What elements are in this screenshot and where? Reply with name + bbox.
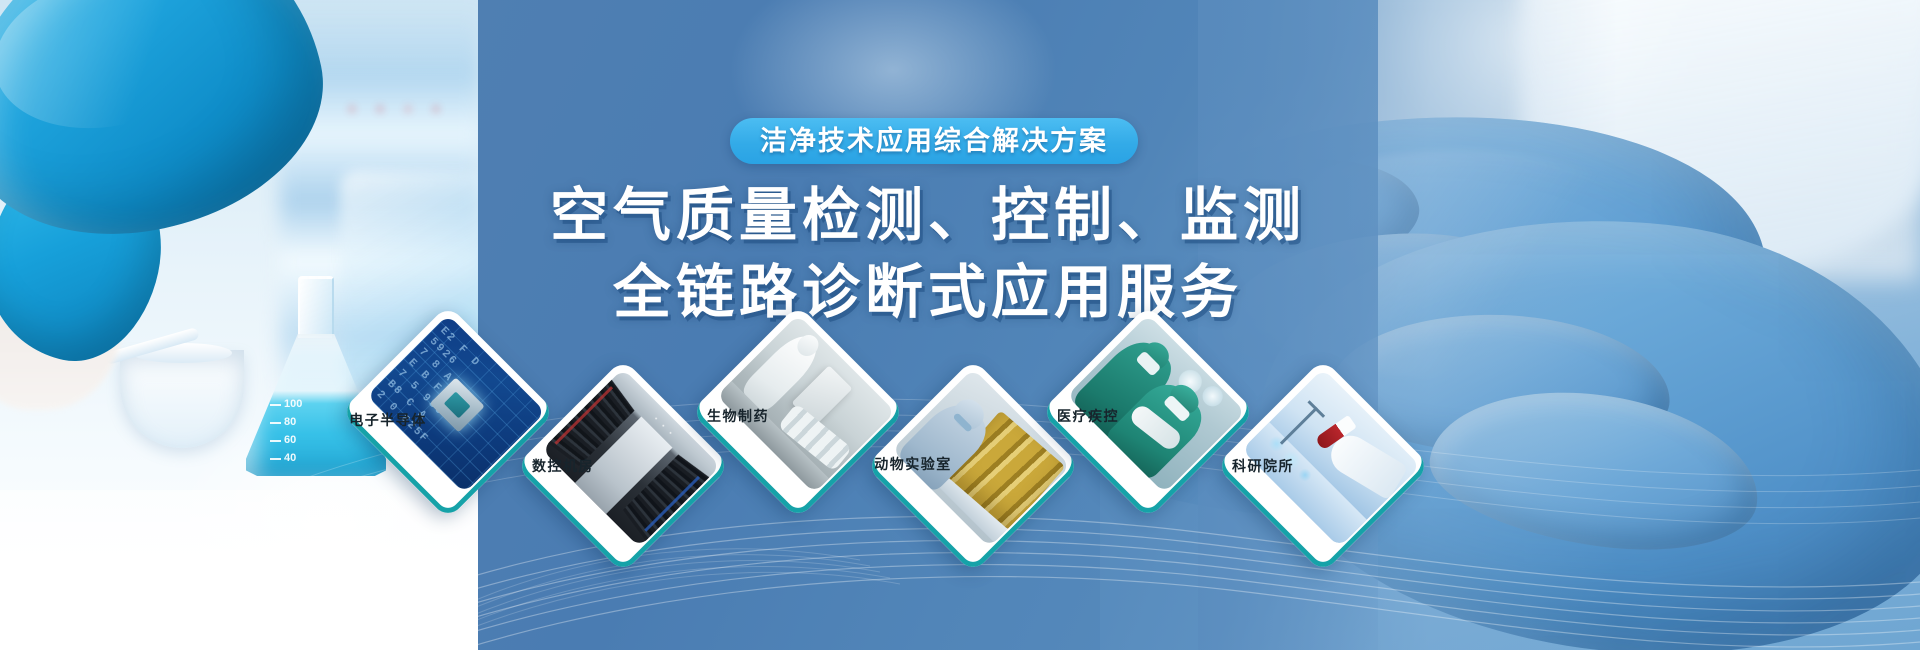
card-label-medical: 医疗疾控 (988, 409, 1188, 423)
card-label-server-room: 数控机房 (463, 459, 663, 473)
card-label-biopharma: 生物制药 (638, 409, 838, 423)
card-label-animal-lab: 动物实验室 (813, 457, 1013, 471)
industry-card-row: E2 F D59267 8 A 1E B F 37 5 936B8 C A2 0… (0, 0, 1920, 650)
card-label-semiconductor: 电子半导体 (288, 413, 488, 427)
hero-banner: 100 80 60 40 (0, 0, 1920, 650)
card-label-research: 科研院所 (1163, 459, 1363, 473)
